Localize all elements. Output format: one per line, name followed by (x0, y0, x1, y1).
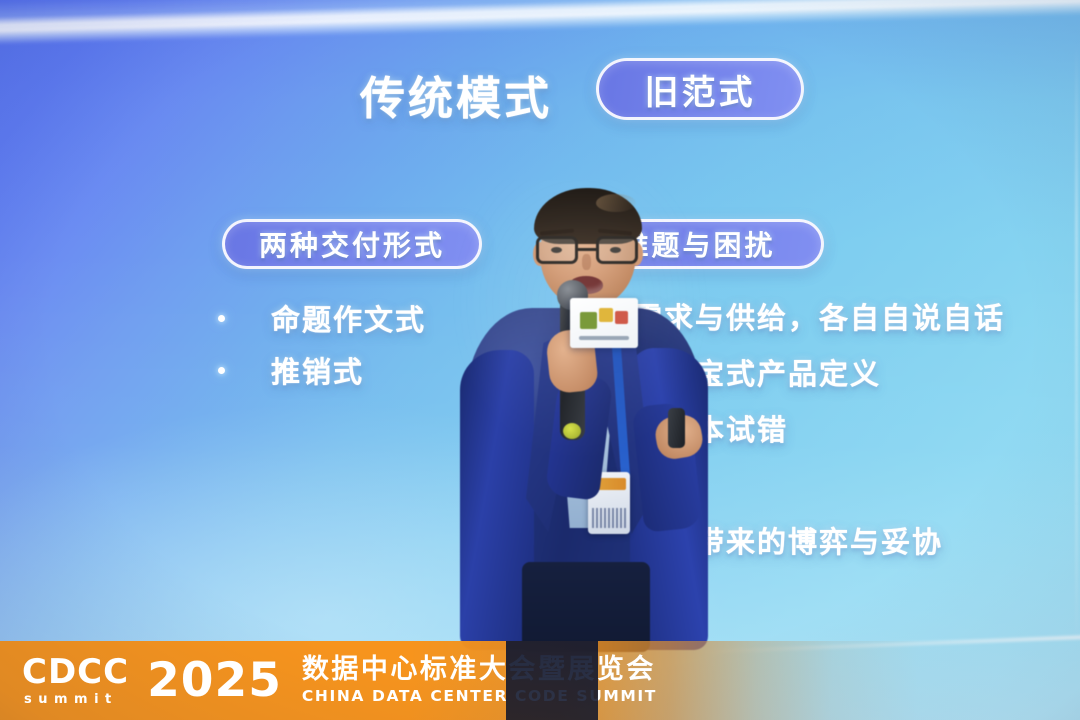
left-section-bullet-list: 命题作文式 推销式 (218, 292, 426, 396)
mic-flag-logo-block-red (615, 311, 628, 324)
event-name-block: 数据中心标准大会暨展览会 CHINA DATA CENTER CODE SUMM… (302, 656, 657, 705)
microphone-logo-flag (570, 298, 638, 348)
speaker-nose (582, 254, 591, 270)
event-year: 2025 (147, 653, 282, 708)
mic-flag-logo-bar (579, 336, 629, 340)
list-item-label: 推销式 (271, 349, 364, 391)
microphone-tip-light (563, 423, 581, 439)
slide-title-badge: 旧范式 (596, 58, 804, 120)
event-name-chinese: 数据中心标准大会暨展览会 (302, 656, 657, 683)
cdcc-logo-wordmark: CDCC (22, 655, 129, 689)
glasses-lens-right (596, 236, 638, 264)
cdcc-logo-subtitle: summit (24, 693, 129, 706)
speaker-trousers (522, 562, 650, 652)
slide-title-badge-label: 旧范式 (645, 65, 756, 114)
mic-flag-logo-block-green (580, 312, 597, 329)
glasses-lens-left (536, 236, 578, 264)
event-name-english: CHINA DATA CENTER CODE SUMMIT (302, 689, 657, 705)
left-section-heading-label: 两种交付形式 (259, 224, 445, 264)
slide-title: 传统模式 (360, 62, 552, 127)
cdcc-logo: CDCC summit (22, 655, 129, 706)
event-banner: CDCC summit 2025 数据中心标准大会暨展览会 CHINA DATA… (0, 641, 1080, 720)
speaker-body-over-banner (506, 641, 598, 720)
presentation-clicker (668, 408, 685, 448)
bullet-dot-icon (218, 315, 225, 322)
bullet-dot-icon (218, 367, 225, 374)
glasses-bridge (578, 248, 596, 251)
list-item: 命题作文式 (218, 292, 426, 344)
mic-flag-logo-block-yellow (599, 308, 613, 322)
speaker-figure (430, 180, 730, 650)
list-item-label: 命题作文式 (271, 297, 426, 339)
screenshot-root: 传统模式 旧范式 两种交付形式 难题与困扰 命题作文式 推销式 需求与供给，各自… (0, 0, 1080, 720)
list-item: 推销式 (218, 344, 426, 396)
